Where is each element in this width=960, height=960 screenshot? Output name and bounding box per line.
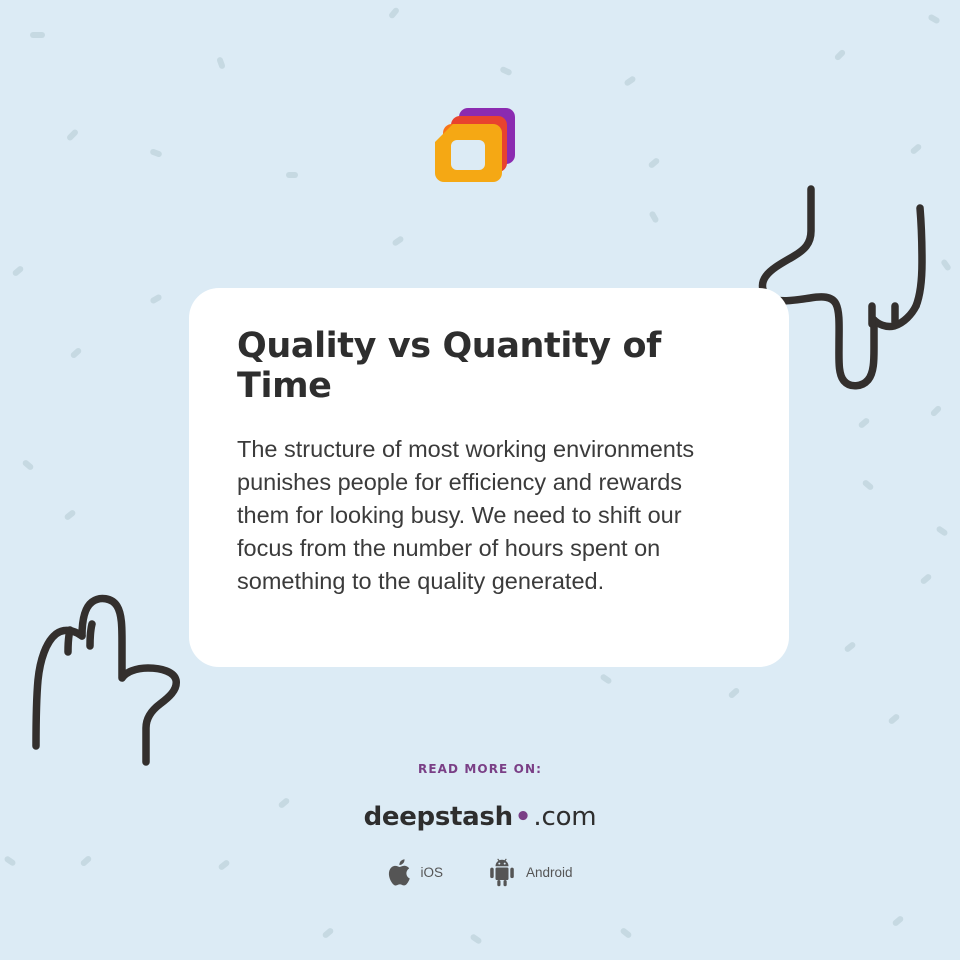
confetti-dash — [66, 128, 79, 141]
deepstash-logo — [429, 104, 519, 200]
confetti-dash — [909, 143, 922, 155]
confetti-dash — [930, 405, 943, 418]
confetti-dash — [919, 573, 932, 585]
confetti-dash — [935, 525, 948, 537]
confetti-dash — [149, 148, 162, 158]
confetti-dash — [469, 933, 482, 945]
brand-dot-icon: • — [513, 802, 534, 832]
confetti-dash — [891, 915, 904, 927]
quote-card: Quality vs Quantity of Time The structur… — [189, 288, 789, 667]
confetti-dash — [286, 172, 298, 178]
confetti-dash — [11, 265, 24, 277]
platform-badge-android[interactable]: Android — [487, 858, 573, 887]
confetti-dash — [63, 509, 76, 521]
confetti-dash — [216, 56, 226, 69]
confetti-dash — [30, 32, 45, 38]
page-title: Quality vs Quantity of Time — [237, 326, 741, 407]
confetti-dash — [623, 75, 636, 87]
android-icon — [487, 858, 517, 887]
confetti-dash — [857, 417, 870, 429]
platform-badge-ios[interactable]: iOS — [387, 858, 443, 887]
hand-pointing-up-icon — [22, 560, 212, 775]
confetti-dash — [70, 347, 83, 359]
confetti-dash — [388, 6, 400, 19]
confetti-dash — [499, 66, 512, 77]
confetti-dash — [21, 459, 34, 471]
apple-icon — [387, 858, 411, 887]
platform-label-ios: iOS — [420, 865, 443, 880]
confetti-dash — [927, 13, 940, 24]
confetti-dash — [391, 235, 404, 247]
confetti-dash — [834, 49, 847, 62]
confetti-dash — [648, 210, 659, 223]
read-more-label: READ MORE ON: — [0, 762, 960, 776]
platform-badges: iOS And — [0, 858, 960, 887]
poster-canvas: Quality vs Quantity of Time The structur… — [0, 0, 960, 960]
confetti-dash — [599, 673, 612, 685]
quote-body-text: The structure of most working environmen… — [237, 433, 737, 598]
footer: READ MORE ON: deepstash•.com iOS — [0, 762, 960, 887]
confetti-dash — [619, 927, 632, 939]
confetti-dash — [843, 641, 856, 653]
confetti-dash — [149, 293, 162, 304]
confetti-dash — [861, 479, 874, 491]
brand-name: deepstash — [364, 802, 513, 832]
confetti-dash — [887, 713, 900, 725]
confetti-dash — [647, 157, 660, 169]
brand-wordmark[interactable]: deepstash•.com — [0, 804, 960, 830]
platform-label-android: Android — [526, 865, 573, 880]
confetti-dash — [321, 927, 334, 939]
brand-tld: .com — [533, 802, 596, 832]
confetti-dash — [728, 687, 741, 699]
